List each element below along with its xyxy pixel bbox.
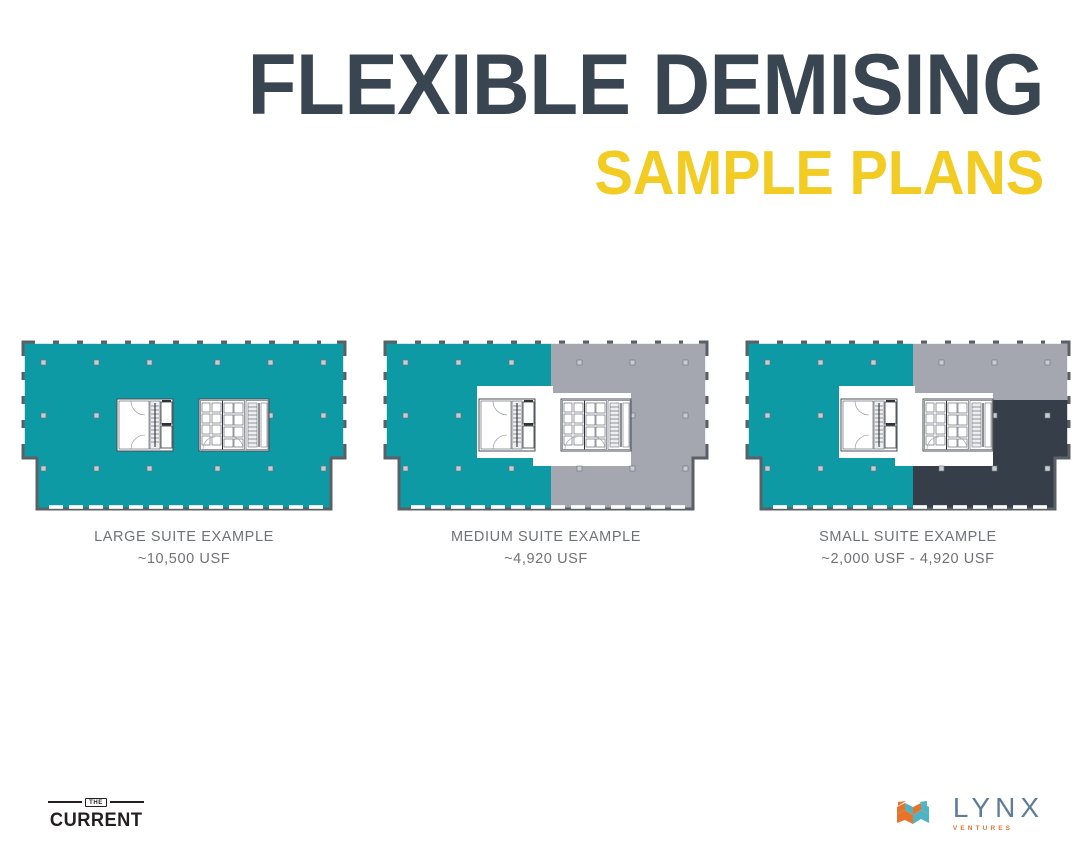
plan-card-large-suite[interactable]: LARGE SUITE EXAMPLE ~10,500 USF bbox=[19, 338, 349, 571]
plan-name-large: LARGE SUITE EXAMPLE bbox=[94, 529, 274, 545]
lynx-tagline: VENTURES bbox=[953, 826, 1013, 833]
core-elevator-stair bbox=[479, 399, 535, 451]
plan-card-small-suite[interactable]: SMALL SUITE EXAMPLE ~2,000 USF - 4,920 U… bbox=[743, 338, 1073, 571]
core-restroom-stair bbox=[561, 399, 631, 451]
plan-caption-large: LARGE SUITE EXAMPLE ~10,500 USF bbox=[94, 527, 274, 571]
the-current-eyebrow: THE bbox=[85, 798, 107, 807]
the-current-logo-top: THE bbox=[48, 796, 144, 808]
core-elevator-stair bbox=[841, 399, 897, 451]
core-restroom-stair bbox=[199, 399, 269, 451]
plan-caption-medium: MEDIUM SUITE EXAMPLE ~4,920 USF bbox=[451, 527, 641, 571]
floor-plan-row: LARGE SUITE EXAMPLE ~10,500 USF MEDIUM bbox=[0, 338, 1092, 571]
rule-left bbox=[48, 801, 82, 803]
plan-card-medium-suite[interactable]: MEDIUM SUITE EXAMPLE ~4,920 USF bbox=[381, 338, 711, 571]
plan-caption-small: SMALL SUITE EXAMPLE ~2,000 USF - 4,920 U… bbox=[819, 527, 997, 571]
lynx-wordmark: LYNX bbox=[953, 794, 1044, 822]
plan-usf-small: ~2,000 USF - 4,920 USF bbox=[819, 549, 997, 571]
page-title-block: FLEXIBLE DEMISING SAMPLE PLANS bbox=[0, 44, 1092, 205]
plan-name-medium: MEDIUM SUITE EXAMPLE bbox=[451, 529, 641, 545]
page-title: FLEXIBLE DEMISING bbox=[73, 44, 1044, 127]
plan-name-small: SMALL SUITE EXAMPLE bbox=[819, 529, 997, 545]
core-restroom-stair bbox=[923, 399, 993, 451]
page-subtitle: SAMPLE PLANS bbox=[73, 143, 1044, 205]
the-current-logo[interactable]: THE CURRENT bbox=[48, 796, 144, 830]
rule-right bbox=[110, 801, 144, 803]
floor-plan-medium-suite[interactable] bbox=[381, 338, 711, 513]
the-current-wordmark: CURRENT bbox=[50, 811, 142, 830]
plan-usf-medium: ~4,920 USF bbox=[451, 549, 641, 571]
plan-fill-zones-small bbox=[743, 338, 1073, 513]
lynx-wordmark-block: LYNX VENTURES bbox=[953, 794, 1044, 833]
plan-fill-zones-large bbox=[19, 338, 349, 513]
floor-plan-small-suite[interactable] bbox=[743, 338, 1073, 513]
plan-fill-zones-medium bbox=[381, 338, 711, 513]
lynx-ventures-logo[interactable]: LYNX VENTURES bbox=[894, 794, 1044, 833]
core-elevator-stair bbox=[117, 399, 173, 451]
lynx-mark-icon bbox=[894, 798, 944, 828]
floor-plan-large-suite[interactable] bbox=[19, 338, 349, 513]
plan-usf-large: ~10,500 USF bbox=[94, 549, 274, 571]
